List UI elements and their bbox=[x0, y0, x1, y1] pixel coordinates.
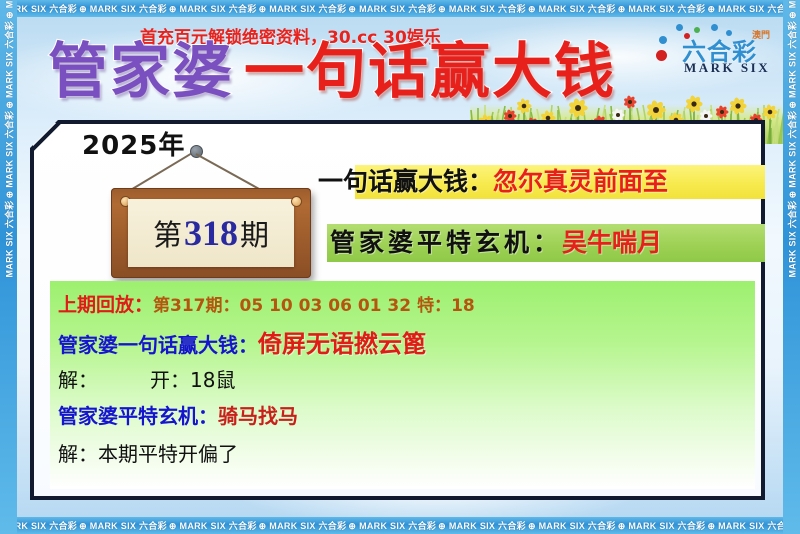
panel-row-formula: 管家婆平特玄机：骑马找马 bbox=[58, 402, 298, 430]
plaque-board: 第318期 bbox=[111, 188, 311, 278]
replay-numbers: 05 10 03 06 01 32 bbox=[240, 296, 412, 316]
border-top: MARK SIX 六合彩⊕ MARK SIX 六合彩⊕ MARK SIX 六合彩… bbox=[0, 0, 800, 17]
panel-row-phrase: 管家婆一句话赢大钱：倚屏无语撚云篦 bbox=[58, 330, 426, 359]
banner-yellow-label: 一句话赢大钱： bbox=[318, 167, 493, 196]
title-part-two: 一句话赢大钱 bbox=[244, 37, 616, 107]
title-part-one: 管家婆 bbox=[48, 37, 234, 107]
open-value: 18鼠 bbox=[190, 368, 235, 392]
formula-label: 管家婆平特玄机： bbox=[58, 404, 218, 428]
formula-value: 骑马找马 bbox=[218, 404, 298, 428]
banner-yellow: 一句话赢大钱：忽尔真灵前面至 bbox=[318, 166, 668, 198]
result-value: 本期平特开偏了 bbox=[98, 442, 238, 466]
replay-special-number: 18 bbox=[451, 296, 475, 316]
replay-issue: 第317期： bbox=[153, 296, 240, 316]
phrase-label: 管家婆一句话赢大钱： bbox=[58, 333, 258, 357]
banner-green-label: 管家婆平特玄机： bbox=[330, 228, 562, 257]
logo-region-label: 澳門 bbox=[752, 28, 770, 41]
banner-yellow-value: 忽尔真灵前面至 bbox=[493, 167, 668, 196]
mark-six-logo: 六合彩 MARK SIX 澳門 bbox=[654, 20, 772, 78]
panel-row-replay: 上期回放：第317期：05 10 03 06 01 32特：18 bbox=[58, 292, 475, 319]
phrase-value: 倚屏无语撚云篦 bbox=[258, 330, 426, 358]
logo-english-name: MARK SIX bbox=[684, 60, 770, 76]
result-label: 解： bbox=[58, 442, 98, 466]
panel-row-open: 解：开：18鼠 bbox=[58, 366, 235, 394]
issue-number: 318 bbox=[182, 213, 240, 253]
border-left: MARK SIX 六合彩⊕ MARK SIX 六合彩⊕ MARK SIX 六合彩… bbox=[0, 0, 17, 534]
panel-row-result: 解：本期平特开偏了 bbox=[58, 440, 238, 468]
open-label: 开： bbox=[150, 368, 190, 392]
page-title: 管家婆一句话赢大钱 bbox=[48, 36, 668, 108]
hanging-plaque: 第318期 bbox=[100, 145, 320, 290]
open-explain-label: 解： bbox=[58, 368, 98, 392]
border-right: MARK SIX 六合彩⊕ MARK SIX 六合彩⊕ MARK SIX 六合彩… bbox=[783, 0, 800, 534]
banner-green: 管家婆平特玄机：吴牛喘月 bbox=[330, 227, 662, 259]
replay-special-label: 特： bbox=[411, 296, 451, 316]
banner-green-value: 吴牛喘月 bbox=[562, 228, 662, 257]
poster-root: MARK SIX 六合彩⊕ MARK SIX 六合彩⊕ MARK SIX 六合彩… bbox=[0, 0, 800, 534]
plaque-paper: 第318期 bbox=[128, 199, 294, 267]
border-bottom: MARK SIX 六合彩⊕ MARK SIX 六合彩⊕ MARK SIX 六合彩… bbox=[0, 517, 800, 534]
issue-text: 第318期 bbox=[153, 212, 269, 254]
replay-label: 上期回放： bbox=[58, 294, 153, 316]
